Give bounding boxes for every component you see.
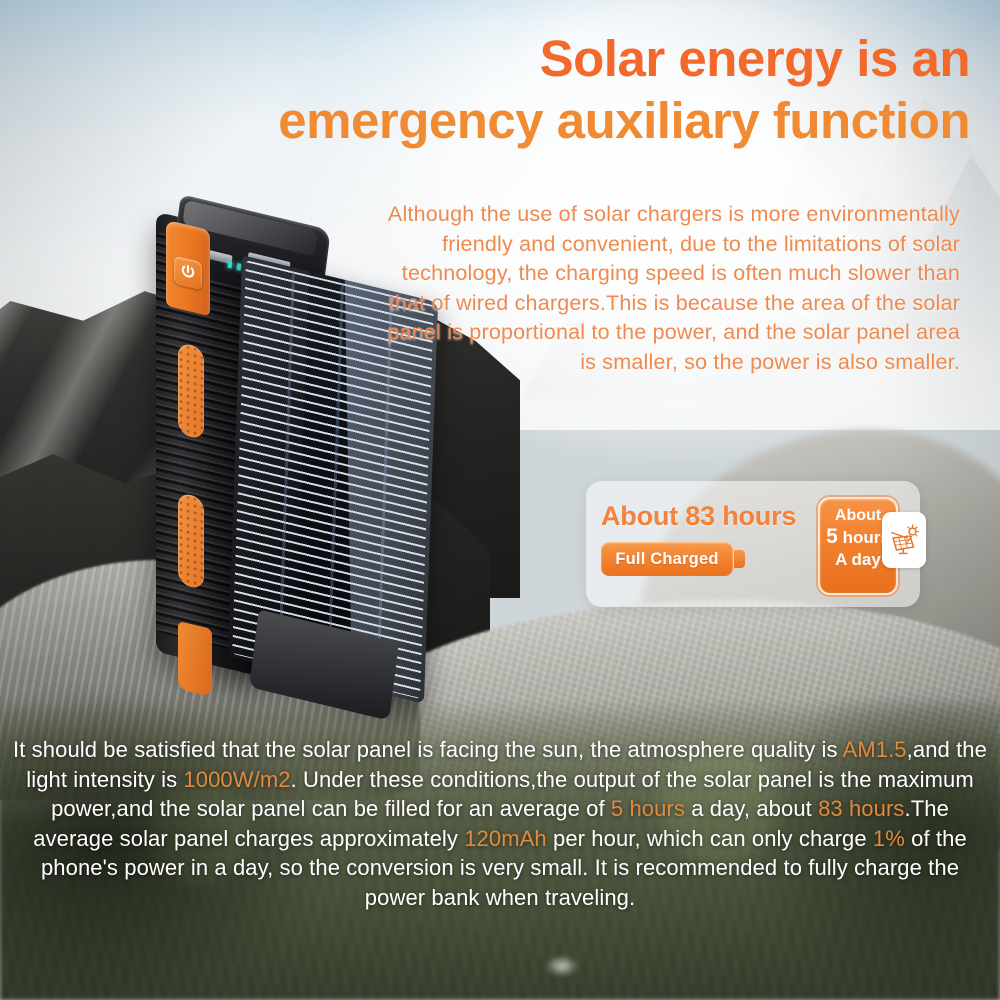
- title-line-1: Solar energy is an: [100, 28, 970, 90]
- about-hours-headline: About 83 hours: [601, 501, 796, 532]
- card-left-column: About 83 hours Full Charged: [601, 501, 796, 576]
- bottom-paragraph-text: It should be satisfied that the solar pa…: [13, 737, 843, 762]
- battery-body: Full Charged: [601, 542, 733, 576]
- solar-panel-gloss-left: [228, 255, 309, 673]
- power-icon: [181, 262, 195, 281]
- battery-label: Full Charged: [615, 550, 718, 569]
- page-title: Solar energy is an emergency auxiliary f…: [100, 28, 970, 152]
- solar-power-bank-image: [150, 205, 410, 685]
- orange-bottom-grip: [178, 621, 212, 697]
- bottom-paragraph-highlight: 1000W/m2: [183, 767, 290, 792]
- bottom-paragraph-highlight: 120mAh: [464, 826, 547, 851]
- poster-root: Solar energy is an emergency auxiliary f…: [0, 0, 1000, 1000]
- badge-number: 5: [826, 525, 838, 548]
- orange-side-pad-1: [178, 342, 204, 440]
- bottom-paragraph-text: per hour, which can only charge: [547, 826, 873, 851]
- battery-tip: [734, 550, 745, 568]
- bottom-paragraph-highlight: 5 hours: [611, 796, 685, 821]
- charging-summary-card: About 83 hours Full Charged About 5 hour…: [586, 481, 920, 607]
- led-1: [228, 260, 233, 268]
- title-line-2: emergency auxiliary function: [100, 90, 970, 152]
- solar-panel-sun-icon: [882, 512, 926, 568]
- battery-indicator: Full Charged: [601, 542, 743, 576]
- bottom-paragraph-highlight: 1%: [873, 826, 905, 851]
- bottom-paragraph-text: a day, about: [685, 796, 818, 821]
- intro-paragraph: Although the use of solar chargers is mo…: [380, 200, 960, 377]
- bottom-paragraph-highlight: AM1.5: [843, 737, 907, 762]
- bottom-paragraph-highlight: 83 hours: [818, 796, 904, 821]
- orange-side-pad-2: [178, 492, 204, 590]
- bottom-paragraph: It should be satisfied that the solar pa…: [10, 735, 990, 912]
- power-bank-group: [150, 205, 410, 685]
